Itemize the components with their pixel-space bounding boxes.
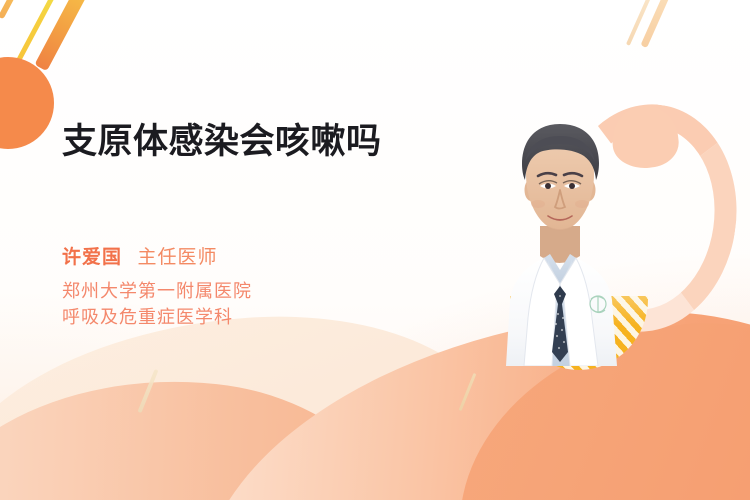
doctor-title: 主任医师	[137, 247, 217, 268]
text-block: 支原体感染会咳嗽吗 许爱国 主任医师 郑州大学第一附属医院 呼吸及危重症医学科	[62, 118, 442, 165]
orange-circle-icon	[0, 57, 54, 149]
wave-cream-shape	[0, 301, 508, 500]
streak-bottom-left-icon	[138, 369, 159, 413]
doctor-portrait	[452, 104, 667, 366]
doctor-byline: 许爱国 主任医师	[62, 242, 217, 269]
streak-top-right-b-icon	[640, 0, 678, 48]
streak-top-left-outer-icon	[0, 0, 36, 19]
streak-top-right-a-icon	[626, 0, 658, 46]
video-cover-card: 支原体感染会咳嗽吗 许爱国 主任医师 郑州大学第一附属医院 呼吸及危重症医学科	[0, 0, 750, 500]
department-name: 呼吸及危重症医学科	[62, 304, 252, 330]
doctor-name: 许爱国	[62, 247, 122, 268]
hospital-name: 郑州大学第一附属医院	[62, 278, 252, 304]
streak-top-left-thick-icon	[34, 0, 95, 71]
page-title: 支原体感染会咳嗽吗	[62, 118, 402, 165]
streak-top-left-thin-icon	[16, 0, 61, 62]
affiliation-block: 郑州大学第一附属医院 呼吸及危重症医学科	[62, 278, 252, 330]
streak-bottom-middle-icon	[459, 373, 477, 411]
doctor-portrait-illustration	[452, 104, 667, 366]
wave-salmon-left-shape	[0, 354, 444, 500]
